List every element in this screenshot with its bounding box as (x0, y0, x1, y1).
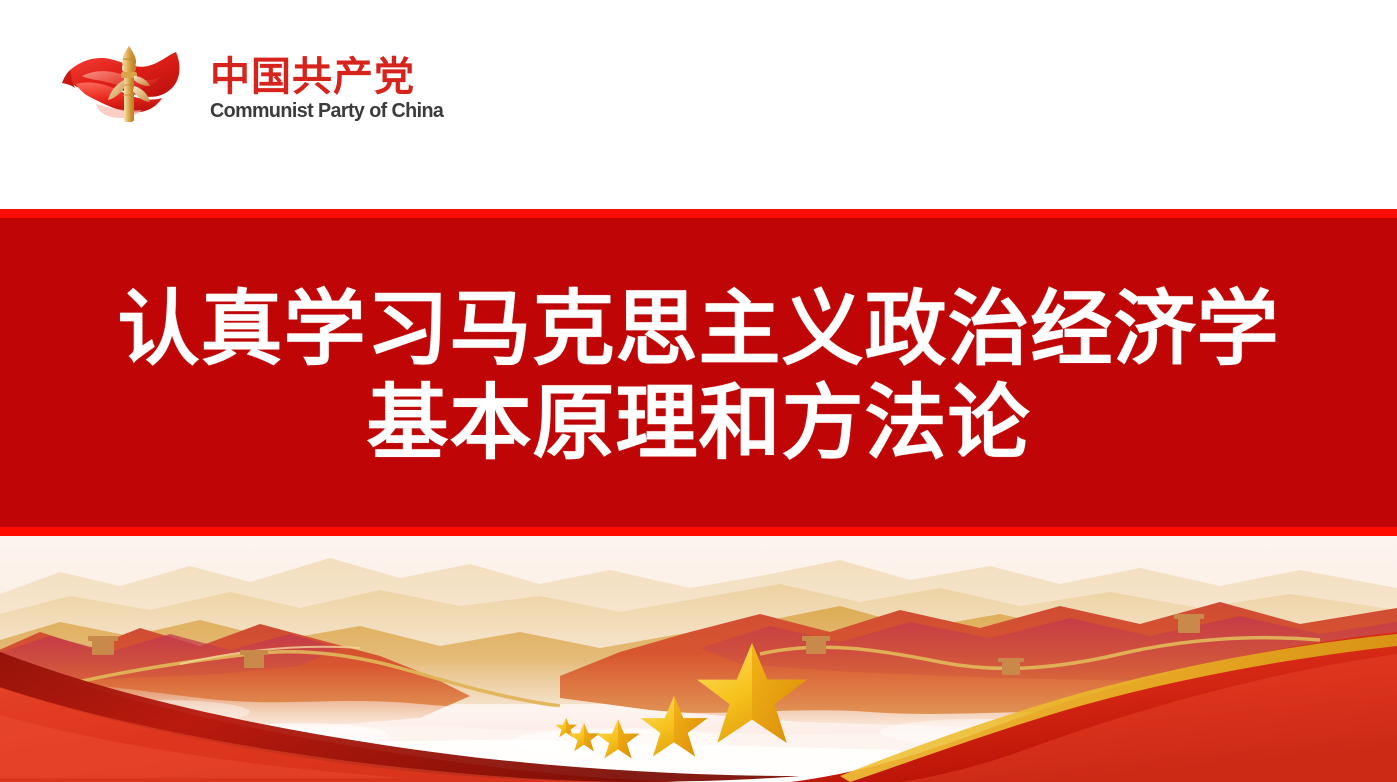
slide-title: 认真学习马克思主义政治经济学 基本原理和方法论 (0, 283, 1397, 471)
title-line-2: 基本原理和方法论 (0, 377, 1397, 471)
accent-stripe-bottom (0, 527, 1397, 536)
presentation-slide: 中国共产党 Communist Party of China 认真学习马克思主义… (0, 0, 1397, 782)
logo-english-name: Communist Party of China (210, 100, 443, 123)
accent-stripe-top (0, 209, 1397, 218)
logo-wordmark: 中国共产党 Communist Party of China (210, 33, 453, 139)
title-band: 认真学习马克思主义政治经济学 基本原理和方法论 (0, 209, 1397, 536)
title-line-1: 认真学习马克思主义政治经济学 (0, 283, 1397, 377)
cpc-logo: 中国共产党 Communist Party of China (62, 36, 453, 136)
slide-header: 中国共产党 Communist Party of China (0, 0, 1397, 209)
logo-chinese-name: 中国共产党 (210, 56, 453, 99)
red-flag-torch-emblem (62, 36, 202, 136)
great-wall-mountains-clouds (0, 536, 1397, 782)
